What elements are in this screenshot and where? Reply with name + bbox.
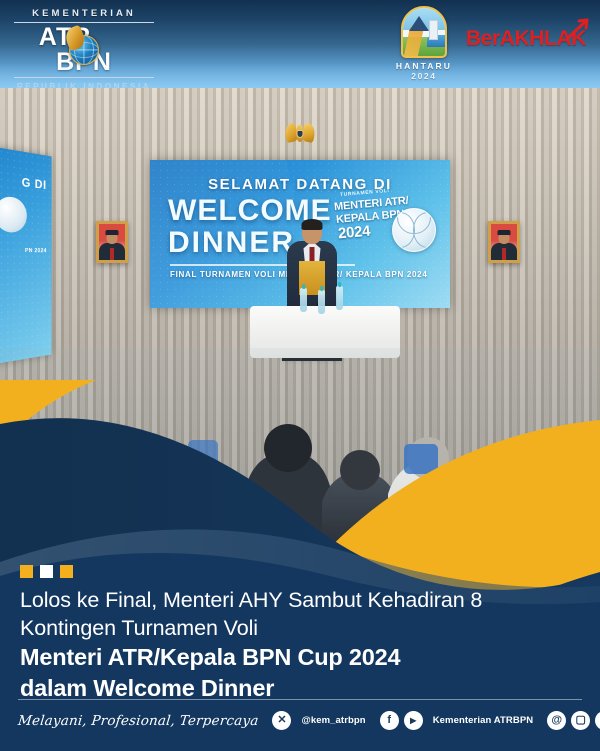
facebook-icon[interactable]: f	[380, 711, 399, 730]
threads-icon[interactable]: @	[547, 711, 566, 730]
header-logos: HANTARU 2024 BerAKHLAK	[393, 6, 586, 81]
headline-line-3: Menteri ATR/Kepala BPN Cup 2024	[20, 643, 565, 673]
instagram-icon[interactable]: ▢	[571, 711, 590, 730]
ministry-logo: KEMENTERIAN ATR BPN REPUBLIK INDONESIA	[14, 8, 154, 90]
headline-line-1: Lolos ke Final, Menteri AHY Sambut Kehad…	[20, 587, 565, 615]
social-group-meta: f ▶ Kementerian ATRBPN	[380, 711, 534, 730]
hantaru-year: 2024	[393, 71, 455, 81]
footer-divider	[18, 699, 582, 700]
social-group-x: ✕ @kem_atrbpn	[272, 711, 365, 730]
volleyball-icon	[392, 208, 436, 252]
accent-squares	[20, 565, 73, 578]
social-group-ig: @ ▢ ♪ @kementerian.atrbpn	[547, 711, 600, 730]
water-bottle	[336, 286, 343, 310]
tournament-emblem: TURNAMEN VOLI MENTERI ATR/ KEPALA BPN 20…	[330, 188, 440, 266]
footer-bar: Melayani, Profesional, Terpercaya ✕ @kem…	[0, 699, 600, 751]
hantaru-name: HANTARU	[393, 61, 455, 71]
youtube-icon[interactable]: ▶	[404, 711, 423, 730]
hantaru-logo: HANTARU 2024	[393, 6, 455, 81]
president-portrait	[96, 221, 128, 263]
accent-square-1	[20, 565, 33, 578]
brand-lockup: ATR BPN	[14, 22, 154, 78]
garuda-emblem-icon	[285, 122, 315, 146]
side-led-screen: G DI PN 2024	[0, 138, 51, 373]
header-banner: KEMENTERIAN ATR BPN REPUBLIK INDONESIA	[0, 0, 600, 90]
water-bottle	[300, 288, 307, 312]
hantaru-badge-icon	[401, 6, 447, 58]
berakhlak-logo: BerAKHLAK	[466, 27, 586, 51]
emblem-year: 2024	[337, 223, 371, 243]
tiktok-icon[interactable]: ♪	[595, 711, 600, 730]
swoosh-icon	[565, 17, 591, 43]
led-line3: DINNER	[168, 228, 295, 258]
handle-x[interactable]: @kem_atrbpn	[301, 715, 365, 726]
side-led-line2: PN 2024	[25, 248, 47, 254]
x-twitter-icon[interactable]: ✕	[272, 711, 291, 730]
headline: Lolos ke Final, Menteri AHY Sambut Kehad…	[20, 587, 565, 703]
tagline: Melayani, Profesional, Terpercaya	[17, 713, 259, 729]
accent-square-2	[40, 565, 53, 578]
handle-meta[interactable]: Kementerian ATRBPN	[433, 715, 534, 726]
ministry-label: KEMENTERIAN	[14, 8, 154, 19]
headline-line-2: Kontingen Turnamen Voli	[20, 615, 565, 643]
vice-president-portrait	[488, 221, 520, 263]
poster-canvas: KEMENTERIAN ATR BPN REPUBLIK INDONESIA	[0, 0, 600, 751]
accent-square-3	[60, 565, 73, 578]
footer-content: Melayani, Profesional, Terpercaya ✕ @kem…	[18, 711, 586, 730]
water-bottle	[318, 290, 325, 314]
side-led-line1: G DI	[22, 175, 47, 192]
